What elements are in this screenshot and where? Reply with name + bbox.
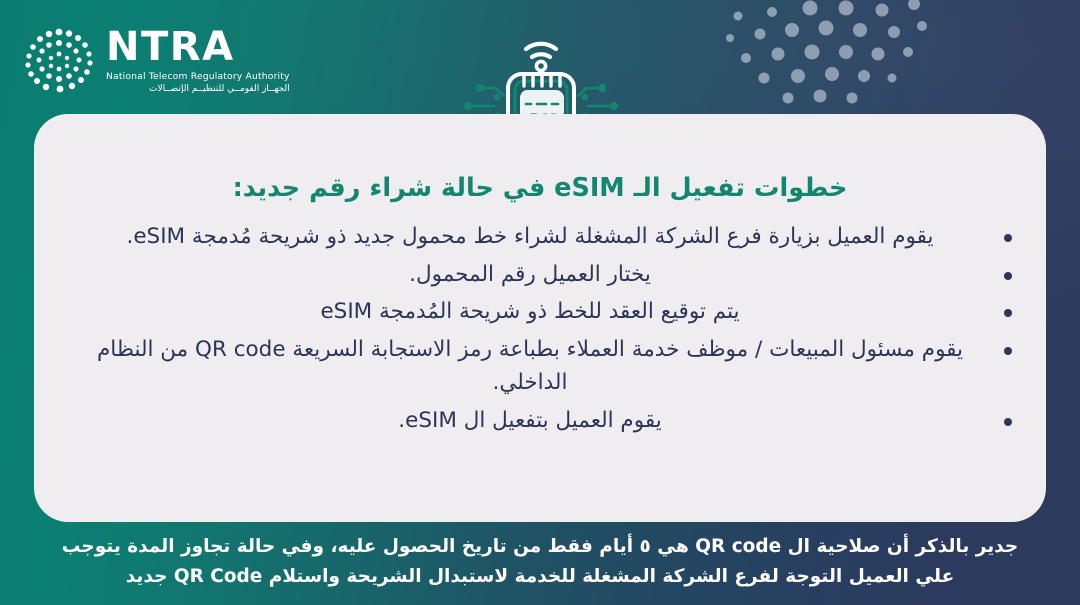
ntra-wordmark: NTRA	[106, 28, 290, 67]
footer-line-2: علي العميل التوجة لفرع الشركة المشغلة لل…	[60, 562, 1020, 592]
step-text: يقوم العميل بتفعيل ال eSIM.	[68, 405, 992, 438]
list-item: يقوم مسئول المبيعات / موظف خدمة العملاء …	[68, 334, 1012, 399]
step-text: يتم توقيع العقد للخط ذو شريحة المُدمجة e…	[68, 296, 992, 329]
infographic-canvas: NTRA National Telecom Regulatory Authori…	[0, 0, 1080, 605]
bullet-icon	[1004, 272, 1012, 280]
list-item: يتم توقيع العقد للخط ذو شريحة المُدمجة e…	[68, 296, 1012, 329]
ntra-subtitle-english: National Telecom Regulatory Authority	[106, 71, 290, 82]
ntra-logo: NTRA National Telecom Regulatory Authori…	[22, 24, 290, 98]
step-text: يختار العميل رقم المحمول.	[68, 259, 992, 292]
step-text: يقوم العميل بزيارة فرع الشركة المشغلة لش…	[68, 221, 992, 254]
list-item: يختار العميل رقم المحمول.	[68, 259, 1012, 292]
bullet-icon	[1004, 347, 1012, 355]
footer-note: جدير بالذكر أن صلاحية ال QR code هي ٥ أي…	[0, 532, 1080, 592]
bullet-icon	[1004, 418, 1012, 426]
steps-card: خطوات تفعيل الـ eSIM في حالة شراء رقم جد…	[34, 114, 1046, 522]
list-item: يقوم العميل بتفعيل ال eSIM.	[68, 405, 1012, 438]
bullet-icon	[1004, 309, 1012, 317]
list-item: يقوم العميل بزيارة فرع الشركة المشغلة لش…	[68, 221, 1012, 254]
footer-line-1: جدير بالذكر أن صلاحية ال QR code هي ٥ أي…	[60, 532, 1020, 562]
ntra-subtitle-arabic: الجهــاز القومــي للتنظيــم الإتصــالات	[106, 84, 290, 94]
step-text: يقوم مسئول المبيعات / موظف خدمة العملاء …	[68, 334, 992, 399]
ntra-logo-text: NTRA National Telecom Regulatory Authori…	[106, 28, 290, 93]
bullet-icon	[1004, 234, 1012, 242]
ntra-logo-mark-icon	[22, 24, 96, 98]
steps-list: يقوم العميل بزيارة فرع الشركة المشغلة لش…	[68, 221, 1012, 437]
page-title: خطوات تفعيل الـ eSIM في حالة شراء رقم جد…	[68, 172, 1012, 205]
